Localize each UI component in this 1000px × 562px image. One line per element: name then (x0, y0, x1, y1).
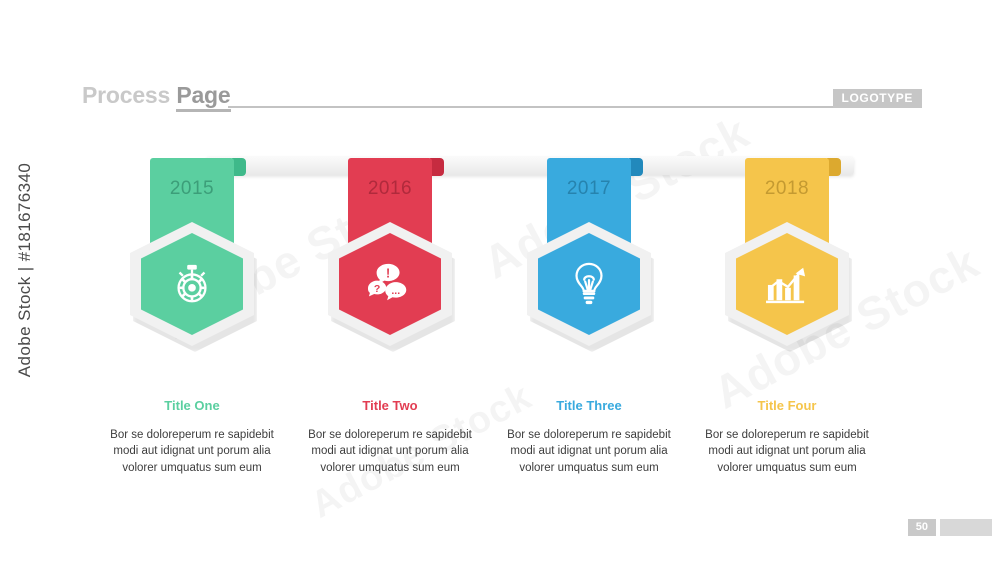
step-caption: Title Three Bor se doloreperum re sapide… (489, 398, 689, 476)
step-title: Title Two (290, 398, 490, 413)
step-year: 2016 (348, 178, 432, 200)
step-body-text: Bor se doloreperum re sapidebit modi aut… (687, 427, 887, 476)
step-title: Title Four (687, 398, 887, 413)
banner-fold-tab (629, 158, 643, 176)
step-year: 2018 (745, 178, 829, 200)
footer-bar (940, 519, 992, 536)
step-caption: Title Two Bor se doloreperum re sapidebi… (290, 398, 490, 476)
step-title: Title One (92, 398, 292, 413)
banner-fold-tab (827, 158, 841, 176)
page-number-badge: 50 (908, 519, 936, 536)
step-body-text: Bor se doloreperum re sapidebit modi aut… (92, 427, 292, 476)
banner-fold-tab (430, 158, 444, 176)
step-body-text: Bor se doloreperum re sapidebit modi aut… (290, 427, 490, 476)
stock-watermark-label: Adobe Stock | #181676340 (15, 105, 35, 435)
step-body-text: Bor se doloreperum re sapidebit modi aut… (489, 427, 689, 476)
hexagon-frame (527, 222, 651, 346)
step-caption: Title Four Bor se doloreperum re sapideb… (687, 398, 887, 476)
process-steps: 2015 (0, 0, 1000, 562)
slide-canvas: Adobe Stock Adobe Stock Adobe Stock Adob… (0, 0, 1000, 562)
banner-fold-tab (232, 158, 246, 176)
step-title: Title Three (489, 398, 689, 413)
hexagon-frame (130, 222, 254, 346)
hexagon-frame (725, 222, 849, 346)
step-year: 2015 (150, 178, 234, 200)
hexagon-frame: ! ? ... (328, 222, 452, 346)
step-caption: Title One Bor se doloreperum re sapidebi… (92, 398, 292, 476)
step-year: 2017 (547, 178, 631, 200)
